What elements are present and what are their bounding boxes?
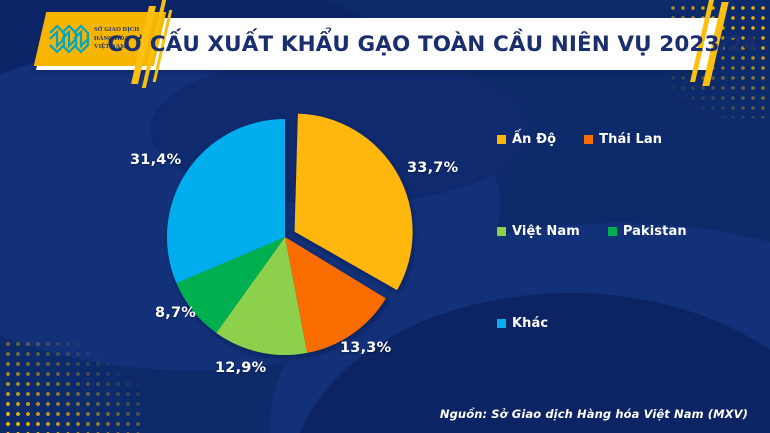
legend-label: Ấn Độ: [512, 132, 556, 147]
legend-swatch-icon: [584, 135, 593, 144]
slice-label-an-do: 33,7%: [407, 160, 458, 176]
pie-chart: 33,7% 13,3% 12,9% 8,7% 31,4%: [155, 100, 435, 375]
legend-label: Thái Lan: [599, 132, 662, 147]
pie-chart-svg: [155, 100, 435, 375]
slice-label-viet-nam: 12,9%: [215, 360, 266, 376]
legend-item-thai-lan[interactable]: Thái Lan: [584, 132, 662, 147]
slice-label-thai-lan: 13,3%: [340, 340, 391, 356]
legend-swatch-icon: [497, 135, 506, 144]
legend-row: Khác: [497, 316, 747, 331]
page-title: CƠ CẤU XUẤT KHẨU GẠO TOÀN CẦU NIÊN VỤ 20…: [160, 18, 705, 70]
legend-swatch-icon: [608, 227, 617, 236]
infographic-canvas: SỞ GIAO DỊCH HÀNG HÓA VIỆT NAM CƠ CẤU XU…: [0, 0, 770, 433]
legend-row: Việt Nam Pakistan: [497, 224, 747, 239]
chart-legend: Ấn Độ Thái Lan Việt Nam Pakistan Khác: [497, 132, 747, 331]
legend-label: Pakistan: [623, 224, 687, 239]
source-caption: Nguồn: Sở Giao dịch Hàng hóa Việt Nam (M…: [440, 407, 748, 421]
legend-label: Khác: [512, 316, 548, 331]
legend-item-viet-nam[interactable]: Việt Nam: [497, 224, 580, 239]
legend-item-khac[interactable]: Khác: [497, 316, 548, 331]
legend-swatch-icon: [497, 319, 506, 328]
legend-item-an-do[interactable]: Ấn Độ: [497, 132, 556, 147]
mxv-weave-logo-icon: [48, 22, 90, 56]
legend-row: Ấn Độ Thái Lan: [497, 132, 747, 147]
slice-label-khac: 31,4%: [130, 152, 181, 168]
slice-label-pakistan: 8,7%: [155, 305, 196, 321]
legend-swatch-icon: [497, 227, 506, 236]
legend-label: Việt Nam: [512, 224, 580, 239]
legend-item-pakistan[interactable]: Pakistan: [608, 224, 687, 239]
